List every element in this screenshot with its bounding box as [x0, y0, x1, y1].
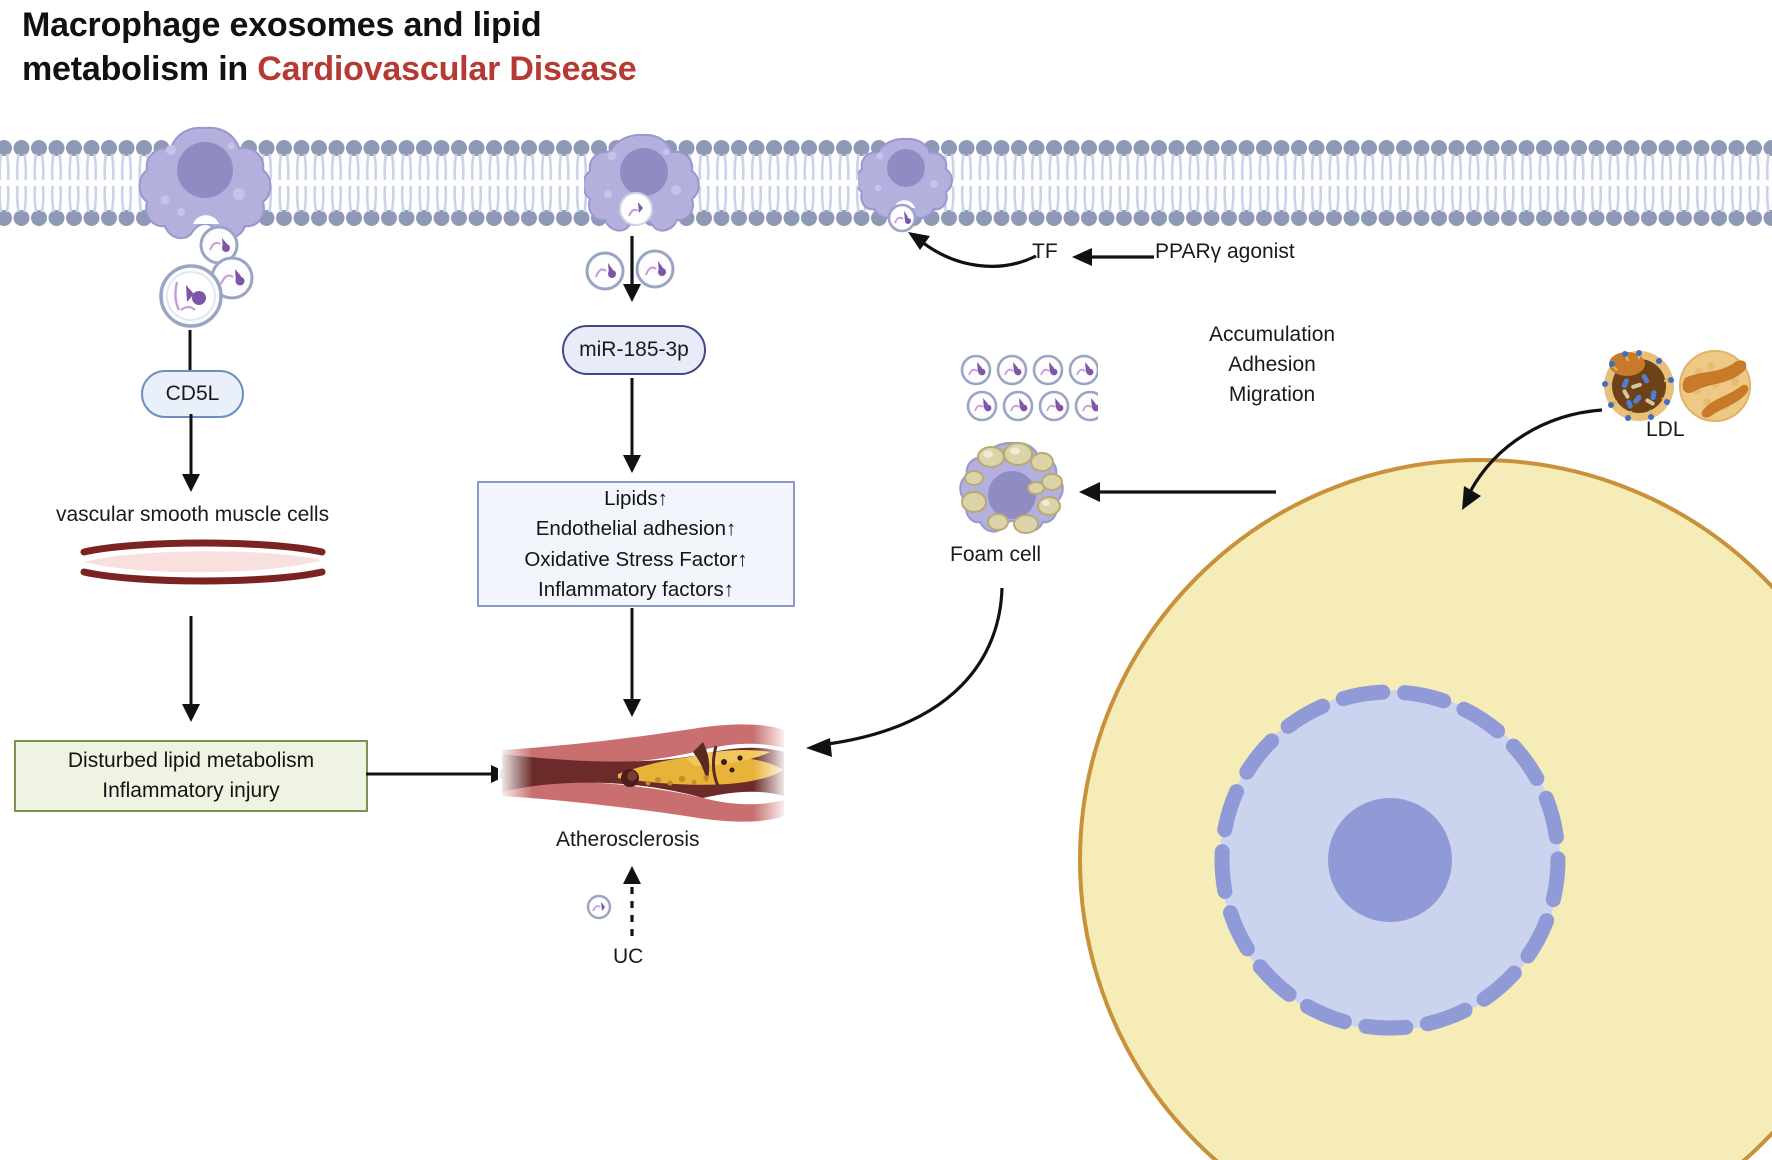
exosome-cluster-item	[1076, 392, 1098, 420]
arrow-foam-cell-to-atherosclerosis	[784, 580, 1024, 760]
label-pparg-agonist: PPARγ agonist	[1155, 240, 1295, 264]
arrow-macrophage-to-mir	[619, 236, 645, 304]
arrow-to-foam-cell	[1076, 478, 1276, 506]
macrophage-middle	[584, 132, 702, 244]
effects-line-3: Oxidative Stress Factor↑	[524, 545, 747, 574]
label-tf: TF	[1032, 240, 1058, 264]
title-line-1: Macrophage exosomes and lipid	[22, 6, 541, 44]
process-migration: Migration	[1209, 380, 1335, 410]
process-adhesion: Adhesion	[1209, 350, 1335, 380]
processes-label-block: Accumulation Adhesion Migration	[1209, 320, 1335, 409]
arrow-pparg-to-tf	[1068, 244, 1154, 270]
effects-line-4: Inflammatory factors↑	[538, 575, 734, 604]
effects-line-1: Lipids↑	[604, 484, 668, 513]
title-line-2-prefix: metabolism in	[22, 50, 257, 88]
atherosclerosis-vessel-graphic	[498, 722, 788, 826]
arrow-tf-to-macrophage	[890, 220, 1050, 280]
exosome-cluster-item	[1004, 392, 1032, 420]
smooth-muscle-cell-graphic	[78, 536, 328, 592]
outcome-line-1: Disturbed lipid metabolism	[68, 746, 314, 776]
exosome-large-cd5l	[155, 260, 227, 332]
effects-box: Lipids↑ Endothelial adhesion↑ Oxidative …	[477, 481, 795, 607]
label-foam-cell: Foam cell	[950, 543, 1041, 567]
arrow-cd5l-to-vsmc	[178, 414, 204, 496]
process-accumulation: Accumulation	[1209, 320, 1335, 350]
node-cd5l-label: CD5L	[166, 382, 220, 406]
node-cd5l[interactable]: CD5L	[141, 370, 244, 418]
exosome-cluster-item	[1070, 356, 1098, 384]
label-uc: UC	[613, 945, 643, 969]
exosome-uc	[584, 892, 614, 922]
label-atherosclerosis: Atherosclerosis	[556, 828, 700, 852]
effects-line-2: Endothelial adhesion↑	[536, 514, 737, 543]
arrow-ldl-to-cell	[1396, 400, 1616, 520]
ldl-particles-graphic	[1601, 348, 1753, 424]
arrow-outcome-to-atherosclerosis	[366, 760, 516, 788]
exosome-cluster-item	[1034, 356, 1062, 384]
label-vascular-smooth-muscle-cells: vascular smooth muscle cells	[56, 503, 329, 527]
outcome-line-2: Inflammatory injury	[102, 776, 279, 806]
foam-cell-graphic	[958, 440, 1070, 548]
exosome-cluster-item	[968, 392, 996, 420]
exosome-cluster-item	[998, 356, 1026, 384]
title-accent: Cardiovascular Disease	[257, 50, 636, 88]
label-ldl: LDL	[1646, 418, 1685, 442]
arrow-vsmc-to-outcome	[178, 616, 204, 726]
arrow-mir-to-effects	[619, 378, 645, 476]
exosome-cluster	[958, 352, 1098, 424]
large-cell-graphic	[1060, 440, 1772, 1160]
node-mir-185-3p[interactable]: miR-185-3p	[562, 325, 706, 375]
page-title: Macrophage exosomes and lipid metabolism…	[22, 4, 862, 91]
node-mir-label: miR-185-3p	[579, 338, 689, 362]
exosome-cluster-item	[962, 356, 990, 384]
diagram-canvas: Macrophage exosomes and lipid metabolism…	[0, 0, 1772, 1149]
exosome-cluster-item	[1040, 392, 1068, 420]
outcome-box: Disturbed lipid metabolism Inflammatory …	[14, 740, 368, 812]
arrow-effects-to-atherosclerosis	[619, 608, 645, 720]
